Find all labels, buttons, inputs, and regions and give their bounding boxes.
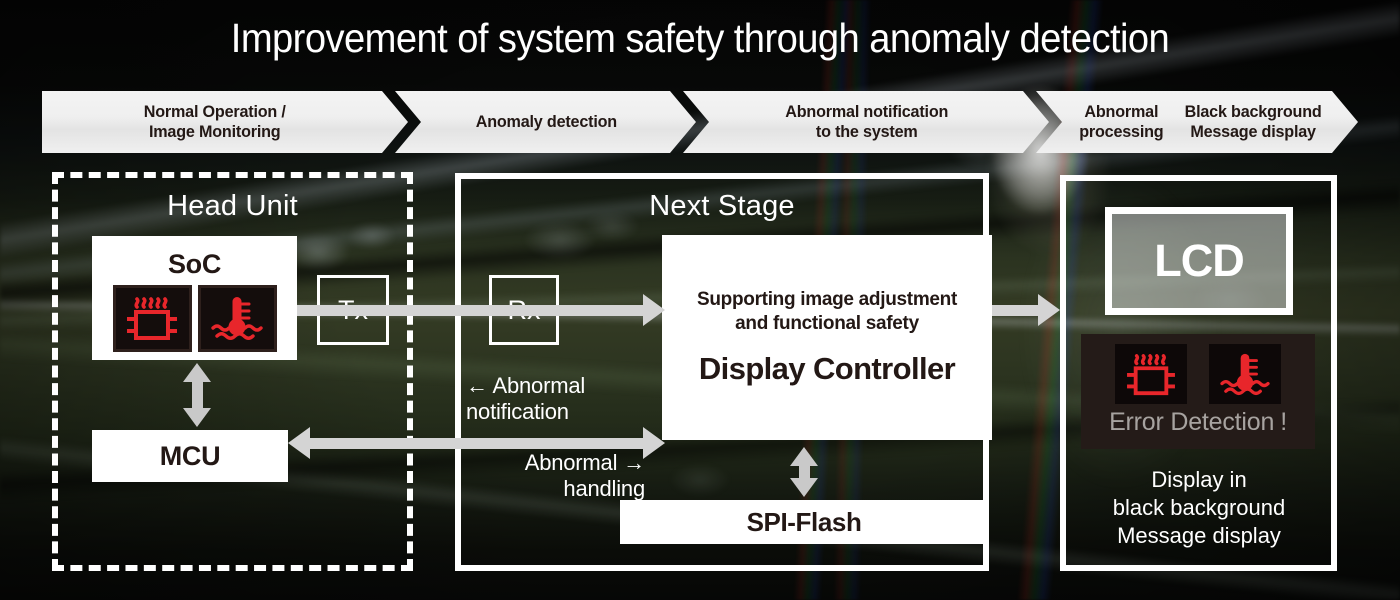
process-step-4-line2: processing: [1079, 122, 1163, 141]
process-flow-bar: Normal Operation / Image Monitoring Anom…: [42, 91, 1358, 153]
process-step-1[interactable]: Normal Operation / Image Monitoring: [42, 91, 408, 153]
display-controller-subtitle: Supporting image adjustment and function…: [697, 288, 957, 336]
error-telltales: [1115, 344, 1281, 404]
display-controller-subtitle-line2: and functional safety: [735, 313, 919, 334]
soc-title: SoC: [168, 249, 221, 280]
abnormal-notification-note: ← Abnormalnotification: [466, 373, 616, 426]
process-step-5-line2: Message display: [1191, 122, 1317, 141]
process-step-1-line2: Image Monitoring: [149, 122, 281, 141]
mcu-label: MCU: [160, 441, 221, 472]
process-step-5: Black background Message display: [1185, 102, 1322, 141]
process-step-4-5[interactable]: Abnormal processing Black background Mes…: [1036, 91, 1358, 153]
output-caption-line3: Message display: [1117, 523, 1281, 548]
next-stage-label: Next Stage: [455, 190, 989, 223]
head-unit-label: Head Unit: [52, 190, 413, 223]
slide-root: Improvement of system safety through ano…: [0, 0, 1400, 600]
spi-flash-label: SPI-Flash: [747, 507, 862, 538]
process-step-4-line1: Abnormal: [1084, 102, 1158, 121]
error-detection-exclamation: !: [1280, 408, 1287, 436]
coolant-temperature-warning-icon: [1209, 344, 1281, 404]
process-step-5-line1: Black background: [1185, 102, 1322, 121]
process-step-3[interactable]: Abnormal notification to the system: [683, 91, 1049, 153]
process-step-1-line1: Normal Operation /: [144, 102, 286, 121]
process-step-2-label: Anomaly detection: [476, 112, 617, 132]
lcd-box[interactable]: LCD: [1105, 207, 1293, 315]
display-controller-to-lcd-arrow: [992, 294, 1060, 326]
output-caption: Display in black background Message disp…: [1066, 466, 1332, 550]
error-detection-message: Error Detection!: [1109, 408, 1287, 437]
process-step-3-line2: to the system: [816, 122, 918, 141]
display-controller-subtitle-line1: Supporting image adjustment: [697, 289, 957, 310]
display-controller-spi-flash-bidirectional-arrow: [790, 447, 818, 497]
process-step-4: Abnormal processing: [1079, 102, 1163, 141]
abnormal-handling-note: Abnormal →handling: [495, 450, 645, 503]
display-controller-box[interactable]: Supporting image adjustment and function…: [662, 235, 992, 440]
page-title: Improvement of system safety through ano…: [49, 18, 1351, 59]
output-caption-line2: black background: [1113, 495, 1285, 520]
output-caption-line1: Display in: [1151, 467, 1246, 492]
process-step-2[interactable]: Anomaly detection: [395, 91, 696, 153]
soc-mcu-bidirectional-arrow: [183, 363, 211, 427]
mcu-box[interactable]: MCU: [92, 430, 288, 482]
error-detection-text: Error Detection: [1109, 408, 1274, 436]
spi-flash-box[interactable]: SPI-Flash: [620, 500, 988, 544]
lcd-label: LCD: [1154, 235, 1243, 287]
head-unit-group: [52, 172, 413, 571]
coolant-temperature-warning-icon: [198, 285, 277, 352]
rear-defroster-warning-icon: [113, 285, 192, 352]
error-detection-panel: Error Detection!: [1081, 334, 1315, 449]
tx-to-display-controller-arrow: [297, 294, 665, 326]
soc-telltales: [113, 285, 277, 352]
display-controller-title: Display Controller: [699, 351, 955, 387]
soc-box[interactable]: SoC: [92, 236, 297, 360]
rear-defroster-warning-icon: [1115, 344, 1187, 404]
process-step-3-line1: Abnormal notification: [786, 102, 949, 121]
